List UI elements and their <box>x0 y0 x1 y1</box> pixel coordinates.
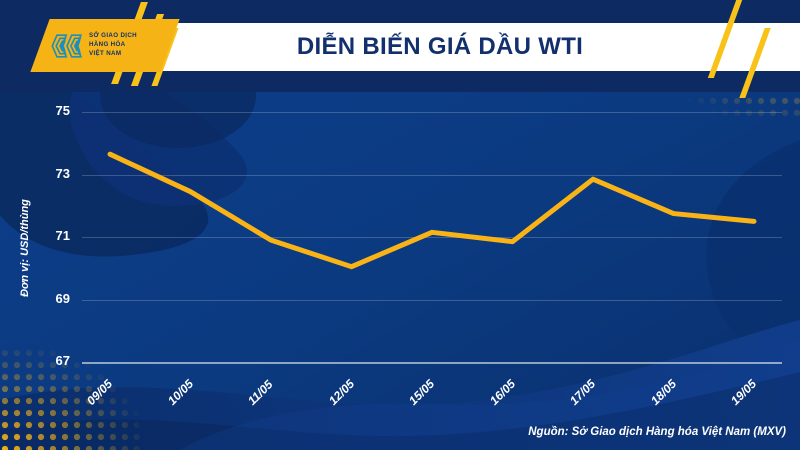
source-note: Nguồn: Sở Giao dịch Hàng hóa Việt Nam (M… <box>528 426 786 438</box>
wti-price-line-chart: Đơn vị: USD/thùng 7573716967 <box>0 92 800 392</box>
brand-line-1: SỞ GIAO DỊCH <box>89 32 137 41</box>
brand-line-3: VIỆT NAM <box>89 50 137 59</box>
brand-logo: SỞ GIAO DỊCH HÀNG HÓA VIỆT NAM <box>40 19 170 72</box>
brand-logo-text: SỞ GIAO DỊCH HÀNG HÓA VIỆT NAM <box>89 32 137 59</box>
plot-area <box>0 92 800 392</box>
header: DIỄN BIẾN GIÁ DẦU WTI SỞ GIAO DỊCH HÀNG … <box>0 0 800 92</box>
series-line-wti <box>110 154 754 267</box>
mxv-maze-logo-icon <box>50 31 84 61</box>
brand-line-2: HÀNG HÓA <box>89 41 137 50</box>
page-title: DIỄN BIẾN GIÁ DẦU WTI <box>160 24 720 70</box>
